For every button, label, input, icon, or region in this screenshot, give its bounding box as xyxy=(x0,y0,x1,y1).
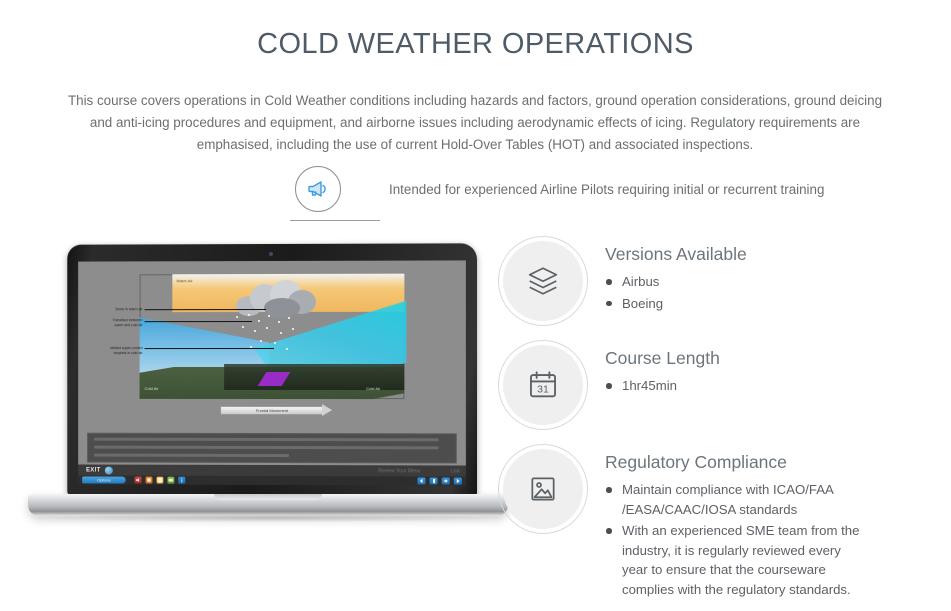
exit-bar-link[interactable]: Link xyxy=(451,468,460,474)
frontal-movement-label: Frontal Movement xyxy=(220,406,324,415)
leader-line-1 xyxy=(145,309,266,310)
laptop-base xyxy=(28,494,508,516)
notes-icon[interactable] xyxy=(156,477,163,484)
audience-underline xyxy=(290,220,380,221)
weather-front-diagram: Snow in warm air Transition between warm… xyxy=(105,274,438,423)
cold-air-label-right: Cold Air xyxy=(366,386,380,391)
feature-title: Regulatory Compliance xyxy=(605,452,865,473)
volume-icon[interactable] xyxy=(135,477,142,484)
closed-caption-icon[interactable] xyxy=(146,477,153,484)
diagram-callout-melted: Melted super-cooled droplets in cold air xyxy=(97,346,143,356)
list-item: Airbus xyxy=(605,272,747,292)
feature-icon-wrap xyxy=(498,236,592,326)
laptop-screen: Snow in warm air Transition between warm… xyxy=(78,260,466,485)
megaphone-icon xyxy=(295,166,341,212)
precipitation-particles xyxy=(230,312,310,358)
caption-line xyxy=(94,446,439,450)
options-button[interactable]: Options xyxy=(82,476,126,483)
page-title: COLD WEATHER OPERATIONS xyxy=(0,28,951,61)
calendar-icon: 31 xyxy=(503,345,583,425)
exit-bar-right: Review Your Menu Link xyxy=(378,468,459,474)
feature-icon-wrap: 31 xyxy=(498,340,592,430)
webcam-icon xyxy=(269,252,273,256)
leader-line-2 xyxy=(145,321,252,322)
laptop-base-notch xyxy=(214,494,322,500)
feature-body: Course Length 1hr45min xyxy=(605,340,720,398)
feature-body: Regulatory Compliance Maintain complianc… xyxy=(605,444,865,601)
feature-course-length: 31 Course Length 1hr45min xyxy=(498,340,720,430)
info-icon[interactable] xyxy=(178,477,185,484)
review-menu-link[interactable]: Review Your Menu xyxy=(378,468,420,474)
frontal-movement-arrow-icon xyxy=(322,404,332,416)
cloud-icon xyxy=(234,280,318,316)
exit-button[interactable]: EXIT xyxy=(86,467,100,473)
feature-list: Airbus Boeing xyxy=(605,272,747,313)
previous-icon[interactable] xyxy=(417,477,425,484)
player-tool-icons xyxy=(135,477,186,484)
feature-title: Versions Available xyxy=(605,244,747,265)
caption-line xyxy=(94,438,439,442)
replay-icon[interactable] xyxy=(442,478,450,485)
leader-line-3 xyxy=(145,348,274,349)
list-item: With an experienced SME team from the in… xyxy=(605,521,865,599)
laptop-lid: Snow in warm air Transition between warm… xyxy=(67,243,477,496)
course-overview-page: COLD WEATHER OPERATIONS This course cove… xyxy=(0,0,951,611)
feature-versions-available: Versions Available Airbus Boeing xyxy=(498,236,747,326)
feature-regulatory-compliance: Regulatory Compliance Maintain complianc… xyxy=(498,444,865,601)
feature-icon-wrap xyxy=(498,444,592,534)
next-icon[interactable] xyxy=(454,478,462,485)
list-item: Maintain compliance with ICAO/FAA /EASA/… xyxy=(605,480,855,519)
diagram-callout-snow: Snow in warm air xyxy=(97,307,143,312)
playback-controls xyxy=(417,477,461,484)
caption-line xyxy=(94,454,289,457)
audience-row: Intended for experienced Airline Pilots … xyxy=(295,166,824,212)
image-icon xyxy=(503,449,583,529)
transcript-icon[interactable] xyxy=(167,477,174,484)
svg-text:31: 31 xyxy=(537,384,549,395)
layers-icon xyxy=(503,241,583,321)
laptop-shadow xyxy=(38,514,500,522)
pause-icon[interactable] xyxy=(430,477,438,484)
audience-text: Intended for experienced Airline Pilots … xyxy=(389,182,824,197)
list-item: Boeing xyxy=(605,294,747,314)
feature-list: 1hr45min xyxy=(605,376,720,396)
course-description: This course covers operations in Cold We… xyxy=(55,90,895,156)
feature-title: Course Length xyxy=(605,348,720,369)
feature-list: Maintain compliance with ICAO/FAA /EASA/… xyxy=(605,480,865,599)
globe-icon[interactable] xyxy=(104,466,112,474)
laptop-mockup: Snow in warm air Transition between warm… xyxy=(28,244,508,536)
list-item: 1hr45min xyxy=(605,376,720,396)
cold-air-label-left: Cold Air xyxy=(145,386,159,391)
player-control-bar: Options xyxy=(78,475,466,485)
feature-body: Versions Available Airbus Boeing xyxy=(605,236,747,315)
diagram-callout-transition: Transition between warm and cold air xyxy=(97,318,143,328)
warm-air-label: Warm Air xyxy=(176,278,192,283)
caption-panel xyxy=(87,433,457,464)
